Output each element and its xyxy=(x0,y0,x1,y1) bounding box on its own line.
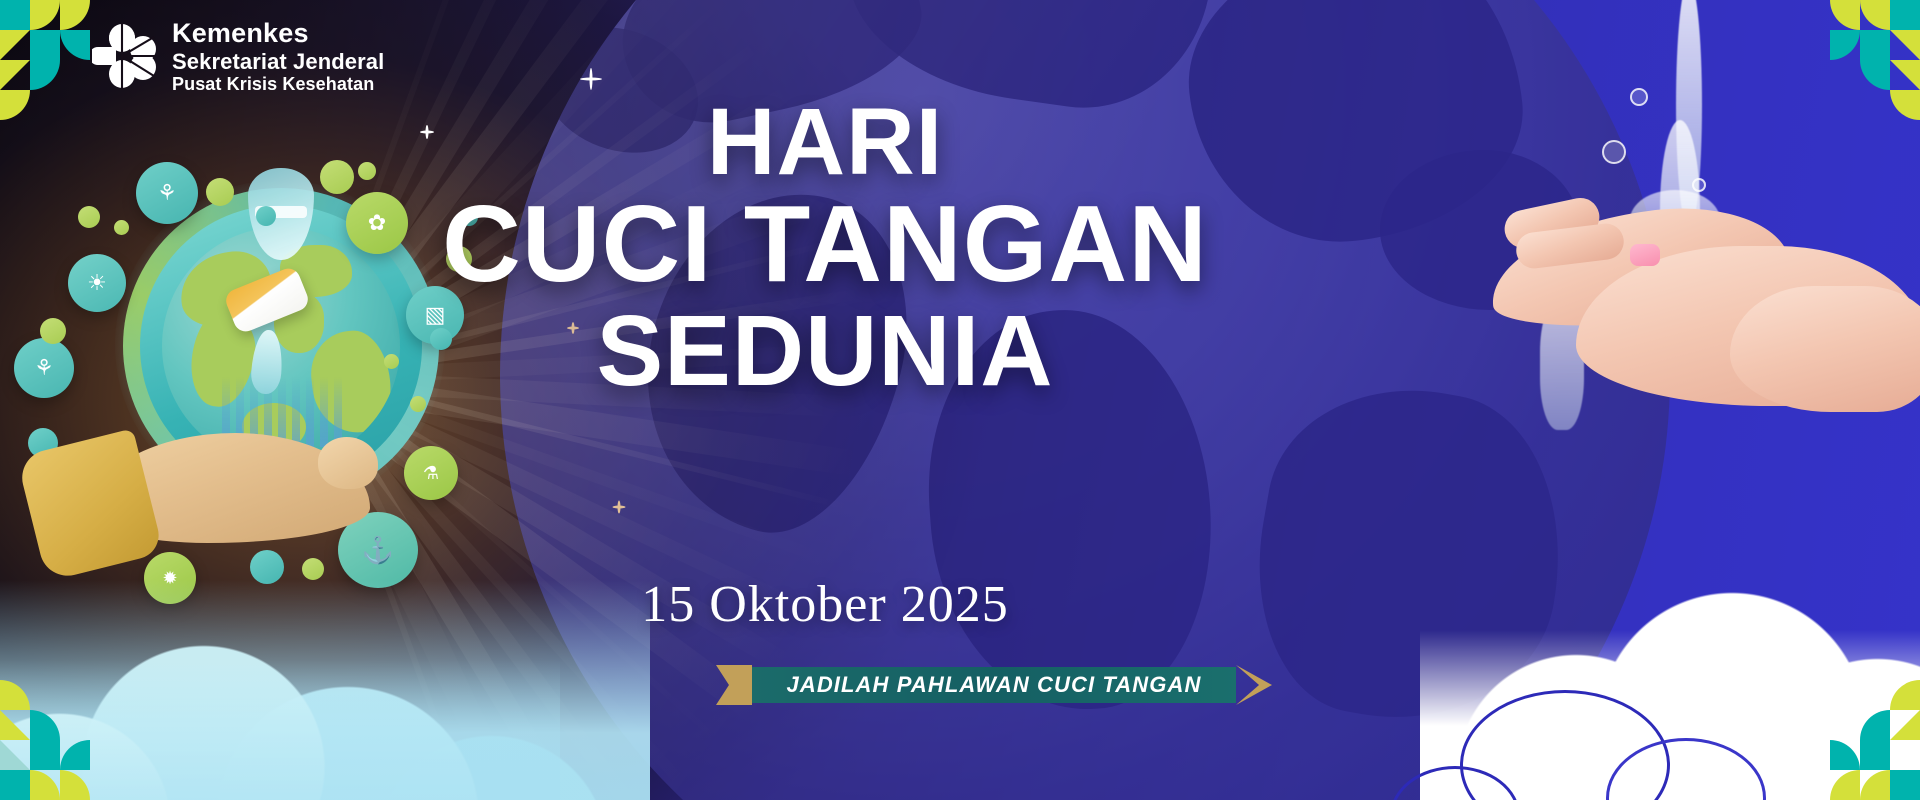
spray-bottle-icon: ⚘ xyxy=(14,338,74,398)
headline-line-3: SEDUNIA xyxy=(430,300,1220,402)
illustration-hand xyxy=(30,415,370,585)
tagline-text: JADILAH PAHLAWAN CUCI TANGAN xyxy=(752,667,1236,703)
headline-block: HARI CUCI TANGAN SEDUNIA xyxy=(430,96,1220,402)
tissue-icon: ✿ xyxy=(346,192,408,254)
logo-line-3: Pusat Krisis Kesehatan xyxy=(172,74,384,95)
chevron-left-icon xyxy=(716,665,752,705)
event-date: 15 Oktober 2025 xyxy=(430,575,1220,634)
corner-pattern-top-right xyxy=(1810,0,1920,110)
kemenkes-flower-logo-icon xyxy=(92,23,156,89)
virus-icon: ⚘ xyxy=(136,162,198,224)
headline-line-2: CUCI TANGAN xyxy=(430,189,1220,300)
thermometer-icon: ⚗ xyxy=(404,446,458,500)
corner-pattern-bottom-left xyxy=(0,690,110,800)
sun-icon: ☀ xyxy=(68,254,126,312)
logo-line-2: Sekretariat Jenderal xyxy=(172,49,384,74)
logo-line-1: Kemenkes xyxy=(172,18,384,49)
tagline-ribbon: JADILAH PAHLAWAN CUCI TANGAN xyxy=(716,665,1272,705)
headline-line-1: HARI xyxy=(430,96,1220,189)
chevron-right-icon xyxy=(1236,665,1272,705)
corner-pattern-bottom-right xyxy=(1810,690,1920,800)
banner-root: ⚘ ☀ ✿ ▧ ⚘ ⚗ ⚓ ✹ xyxy=(0,0,1920,800)
kemenkes-logo[interactable]: Kemenkes Sekretariat Jenderal Pusat Kris… xyxy=(92,18,384,94)
